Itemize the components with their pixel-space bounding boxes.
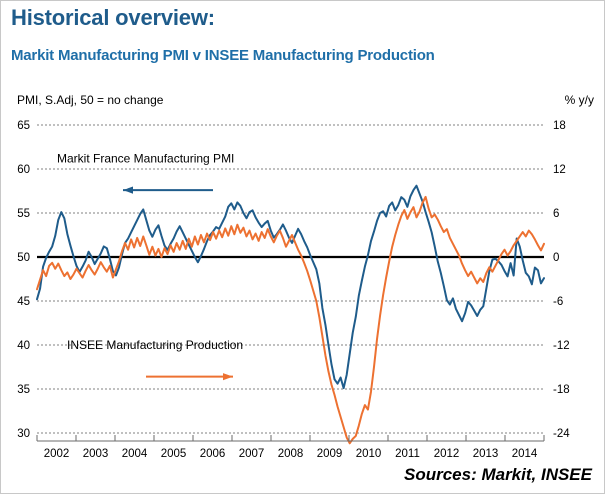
svg-text:45: 45 <box>17 296 30 308</box>
svg-text:12: 12 <box>553 164 566 176</box>
chart-annotations: Markit France Manufacturing PMIINSEE Man… <box>57 151 243 380</box>
pmi-series-label: Markit France Manufacturing PMI <box>57 151 234 165</box>
svg-text:2006: 2006 <box>200 448 226 460</box>
gridlines-group <box>37 125 544 433</box>
left-arrow-head-icon <box>123 187 133 194</box>
x-axis <box>37 435 544 441</box>
data-series-group <box>37 186 544 444</box>
svg-text:-18: -18 <box>553 384 570 396</box>
svg-text:2012: 2012 <box>434 448 460 460</box>
svg-text:60: 60 <box>17 164 30 176</box>
page-title: Historical overview: <box>11 5 215 31</box>
svg-text:2002: 2002 <box>44 448 70 460</box>
svg-text:0: 0 <box>553 252 559 264</box>
svg-text:50: 50 <box>17 252 30 264</box>
chart-title: Markit Manufacturing PMI v INSEE Manufac… <box>11 47 435 64</box>
pmi-vs-production-line-chart: 3035404550556065 -24-18-12-6061218 20022… <box>1 113 605 463</box>
svg-text:30: 30 <box>17 428 30 440</box>
svg-text:2013: 2013 <box>473 448 499 460</box>
svg-text:2004: 2004 <box>122 448 148 460</box>
svg-text:65: 65 <box>17 120 30 132</box>
x-axis-tick-labels: 2002200320042005200620072008200920102011… <box>44 448 538 460</box>
right-axis-unit-label: % y/y <box>565 93 594 107</box>
svg-text:2011: 2011 <box>395 448 420 460</box>
svg-text:2009: 2009 <box>317 448 343 460</box>
svg-text:18: 18 <box>553 120 566 132</box>
svg-text:-24: -24 <box>553 428 570 440</box>
svg-text:6: 6 <box>553 208 559 220</box>
left-axis-unit-label: PMI, S.Adj, 50 = no change <box>17 93 163 107</box>
svg-text:35: 35 <box>17 384 30 396</box>
insee-series-label: INSEE Manufacturing Production <box>67 338 243 352</box>
right-arrow-head-icon <box>223 373 233 380</box>
svg-text:2005: 2005 <box>161 448 187 460</box>
sources-note: Sources: Markit, INSEE <box>404 465 592 485</box>
svg-text:2010: 2010 <box>356 448 382 460</box>
svg-text:2014: 2014 <box>512 448 538 460</box>
svg-text:2003: 2003 <box>83 448 109 460</box>
left-axis-tick-labels: 3035404550556065 <box>17 120 30 440</box>
svg-text:40: 40 <box>17 340 30 352</box>
svg-text:-6: -6 <box>553 296 563 308</box>
svg-text:2007: 2007 <box>239 448 265 460</box>
svg-text:55: 55 <box>17 208 30 220</box>
chart-plot-area: 3035404550556065 -24-18-12-6061218 20022… <box>1 113 605 463</box>
svg-text:-12: -12 <box>553 340 570 352</box>
svg-text:2008: 2008 <box>278 448 304 460</box>
right-axis-tick-labels: -24-18-12-6061218 <box>553 120 570 440</box>
